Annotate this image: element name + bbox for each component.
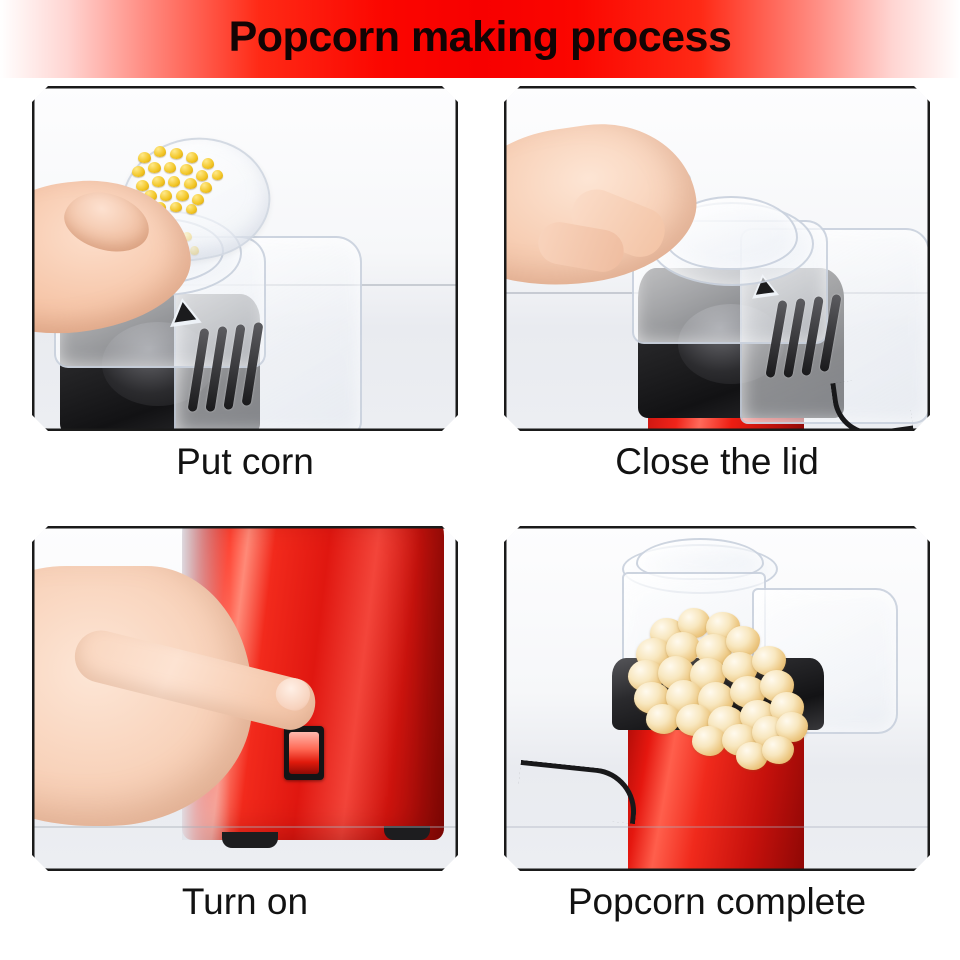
scene-put-corn [32, 86, 458, 431]
machine-foot [222, 832, 278, 848]
panel-caption: Turn on [32, 871, 458, 927]
panel-put-corn[interactable]: Put corn [32, 86, 458, 481]
table-edge-line [32, 826, 458, 828]
panel-caption: Close the lid [504, 431, 930, 487]
power-switch-icon[interactable] [284, 726, 324, 780]
power-switch-rocker[interactable] [289, 732, 319, 774]
scene-turn-on [32, 526, 458, 871]
panel-close-the-lid[interactable]: Close the lid [504, 86, 930, 481]
panel-grid: Put corn [0, 78, 960, 960]
table-edge-line [504, 826, 930, 828]
panel-turn-on[interactable]: Turn on [32, 526, 458, 921]
panel-popcorn-complete[interactable]: Popcorn complete [504, 526, 930, 921]
machine-foot [384, 826, 430, 840]
header-banner: Popcorn making process [0, 0, 960, 78]
panel-caption: Put corn [32, 431, 458, 487]
panel-frame [32, 526, 458, 871]
panel-frame [504, 526, 930, 871]
panel-caption: Popcorn complete [504, 871, 930, 927]
scene-popcorn-complete [504, 526, 930, 871]
scene-close-the-lid [504, 86, 930, 431]
panel-frame [32, 86, 458, 431]
panel-frame [504, 86, 930, 431]
popcorn-process-infographic: Popcorn making process [0, 0, 960, 960]
power-cord [830, 373, 913, 431]
page-title: Popcorn making process [229, 16, 732, 59]
